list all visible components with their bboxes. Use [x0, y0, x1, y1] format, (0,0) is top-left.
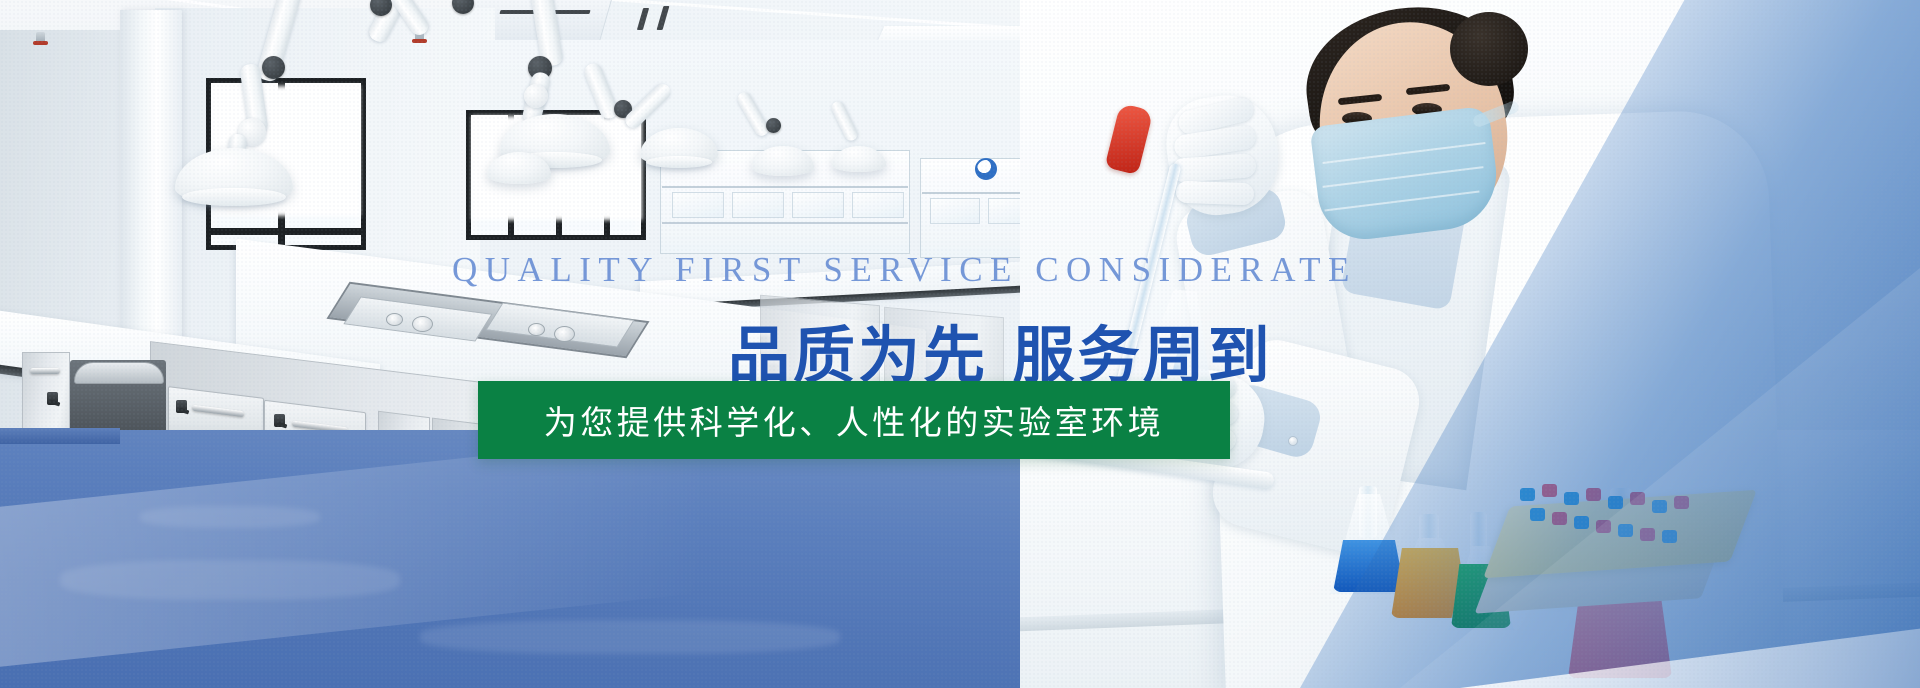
english-tagline: QUALITY FIRST SERVICE CONSIDERATE: [452, 250, 1357, 290]
subtitle-bar: 为您提供科学化、人性化的实验室环境: [478, 381, 1230, 459]
subtitle-text: 为您提供科学化、人性化的实验室环境: [544, 396, 1165, 444]
hero-banner: QUALITY FIRST SERVICE CONSIDERATE 品质为先 服…: [0, 0, 1920, 688]
banner-text-block: QUALITY FIRST SERVICE CONSIDERATE 品质为先 服…: [0, 0, 1920, 688]
